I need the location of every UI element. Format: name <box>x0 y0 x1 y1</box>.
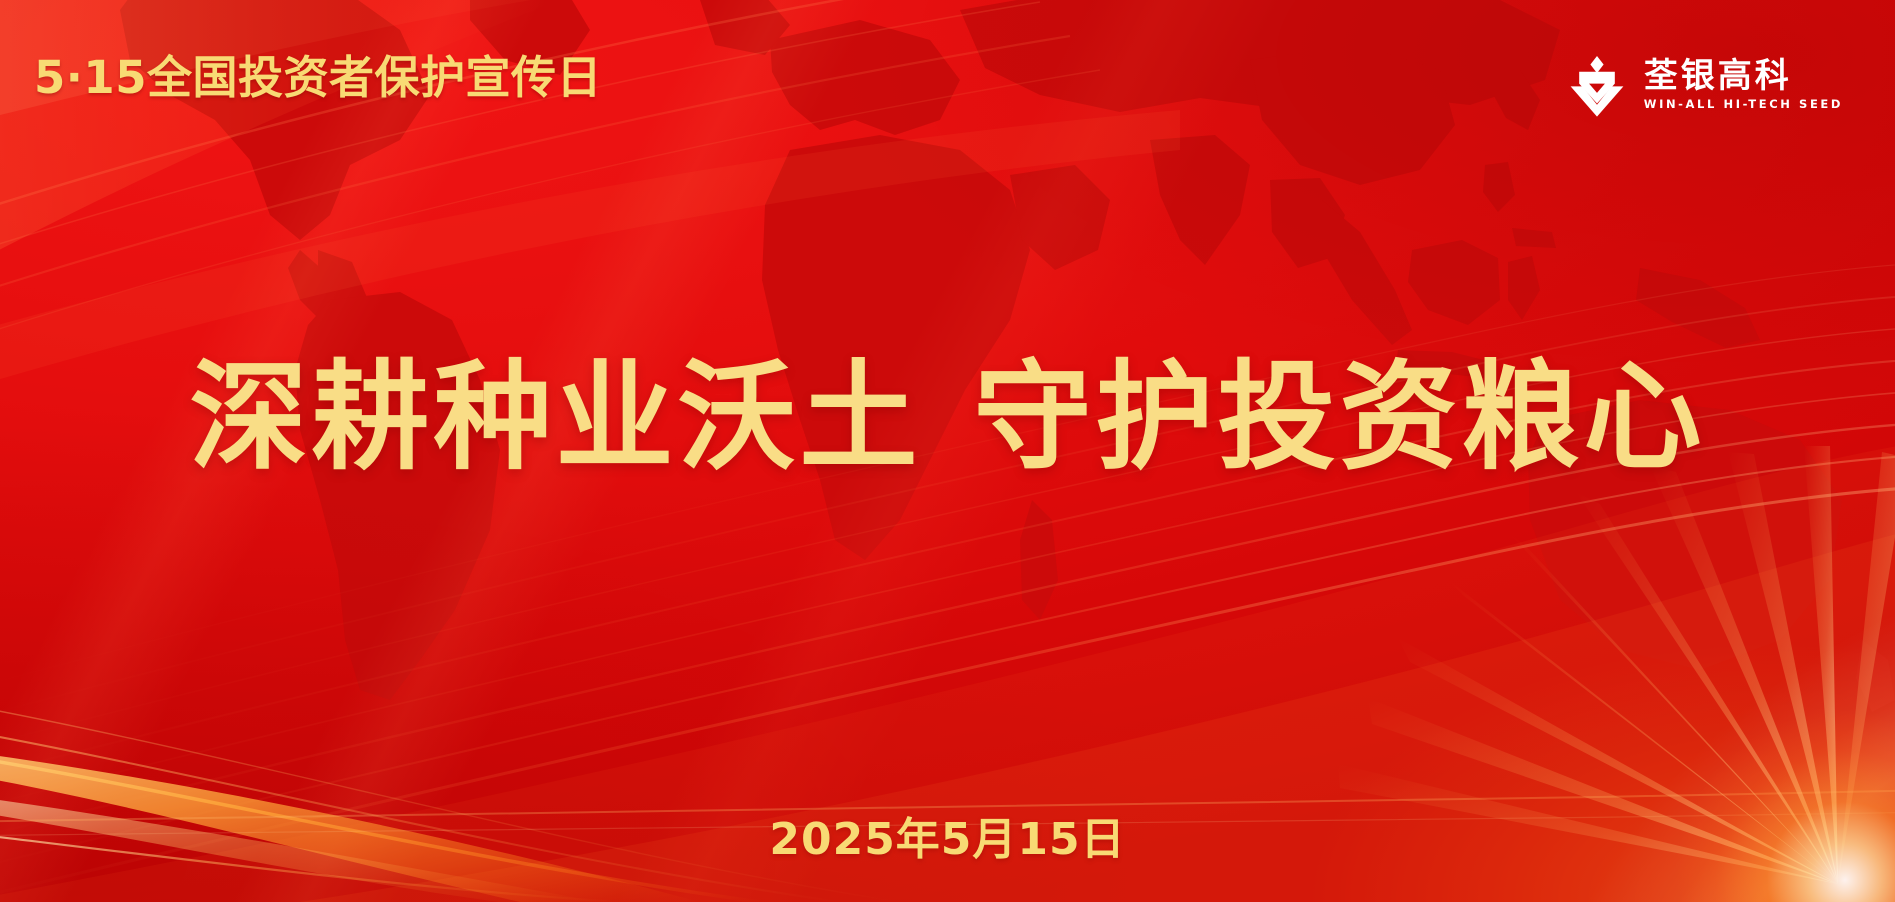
company-name-en: WIN-ALL HI-TECH SEED <box>1644 98 1843 112</box>
banner-canvas: 5·15全国投资者保护宣传日 荃银高科 WIN-AL <box>0 0 1895 902</box>
campaign-kicker: 5·15全国投资者保护宣传日 <box>34 55 602 100</box>
wheat-chevron-icon <box>1564 52 1630 118</box>
company-logo-text: 荃银高科 WIN-ALL HI-TECH SEED <box>1644 58 1843 112</box>
company-name-cn: 荃银高科 <box>1644 58 1843 95</box>
banner-headline: 深耕种业沃土守护投资粮心 <box>0 348 1895 487</box>
event-date: 2025年5月15日 <box>0 803 1895 867</box>
headline-part-2: 守护投资粮心 <box>974 348 1706 486</box>
headline-part-1: 深耕种业沃土 <box>189 348 921 486</box>
company-logo: 荃银高科 WIN-ALL HI-TECH SEED <box>1564 52 1843 118</box>
banner-content: 5·15全国投资者保护宣传日 荃银高科 WIN-AL <box>0 0 1895 902</box>
